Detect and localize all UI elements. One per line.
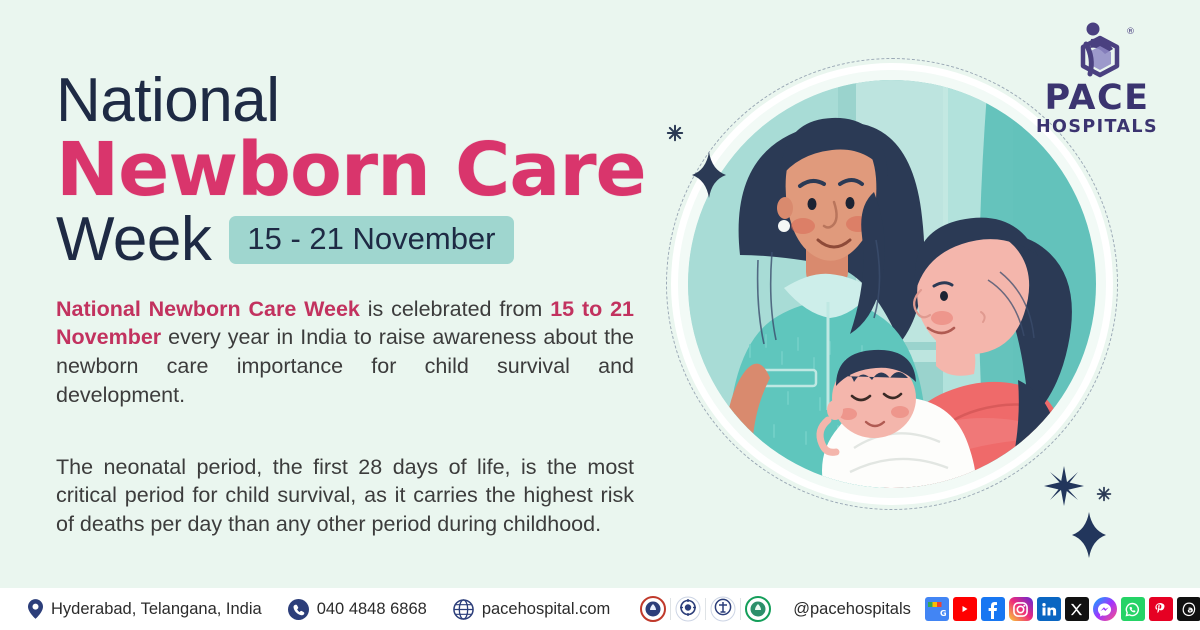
- logo-text-hospitals: HOSPITALS: [1022, 119, 1172, 137]
- description-text-1: is celebrated from: [360, 297, 550, 321]
- accreditation-badge-green: [745, 596, 771, 622]
- date-range-badge: 15 - 21 November: [229, 216, 513, 265]
- footer-location: Hyderabad, Telangana, India: [28, 599, 262, 619]
- accreditation-badge-nabl: [675, 596, 701, 622]
- headline-block: National Newborn Care Week 15 - 21 Novem…: [56, 72, 656, 539]
- logo-text-pace: PACE: [1022, 81, 1172, 116]
- svg-text:G: G: [940, 609, 946, 617]
- headline-week-row: Week 15 - 21 November: [56, 209, 656, 271]
- brand-logo[interactable]: ® PACE HOSPITALS: [1022, 22, 1172, 137]
- threads-icon[interactable]: [1177, 597, 1200, 621]
- phone-icon: [288, 599, 309, 620]
- description-paragraph-1: National Newborn Care Week is celebrated…: [56, 295, 634, 438]
- globe-icon: [453, 599, 474, 620]
- headline-line-week: Week: [56, 209, 211, 271]
- google-business-icon[interactable]: G: [925, 597, 949, 621]
- pinterest-icon[interactable]: [1149, 597, 1173, 621]
- nurse-mother-baby-illustration: [688, 80, 1096, 488]
- footer-phone-text: 040 4848 6868: [317, 600, 427, 619]
- social-handle: @pacehospitals: [793, 600, 911, 619]
- footer-phone[interactable]: 040 4848 6868: [288, 599, 427, 620]
- accreditation-badge-jci: [710, 596, 736, 622]
- x-twitter-icon[interactable]: [1065, 597, 1089, 621]
- logo-mark-hexagon-person-icon: ®: [1022, 22, 1172, 78]
- footer-location-text: Hyderabad, Telangana, India: [51, 600, 262, 619]
- sparkle-asterisk-top-left-icon: [666, 124, 684, 142]
- illustration-circle: [688, 80, 1096, 488]
- social-icons-row: G: [925, 597, 1200, 621]
- sparkle-asterisk-bottom-right-icon: [1096, 486, 1112, 502]
- poster-canvas: National Newborn Care Week 15 - 21 Novem…: [0, 0, 1200, 630]
- badge-divider: [705, 598, 706, 620]
- linkedin-icon[interactable]: [1037, 597, 1061, 621]
- youtube-icon[interactable]: [953, 597, 977, 621]
- headline-line-national: National: [56, 72, 656, 131]
- highlight-event-name: National Newborn Care Week: [56, 297, 360, 321]
- footer-website[interactable]: pacehospital.com: [453, 599, 610, 620]
- trademark-symbol: ®: [1126, 27, 1134, 37]
- sparkle-four-point-top-left-icon: [692, 152, 726, 198]
- facebook-icon[interactable]: [981, 597, 1005, 621]
- accreditation-badges: [640, 596, 771, 622]
- accreditation-badge-nabh: [640, 596, 666, 622]
- footer-bar: Hyderabad, Telangana, India 040 4848 686…: [0, 588, 1200, 630]
- footer-website-text: pacehospital.com: [482, 600, 610, 619]
- badge-divider: [740, 598, 741, 620]
- map-pin-icon: [28, 599, 43, 619]
- sparkle-four-point-bottom-right-icon: [1072, 512, 1106, 558]
- sparkle-burst-bottom-right-icon: [1044, 466, 1084, 506]
- headline-line-newborn-care: Newborn Care: [56, 133, 668, 207]
- badge-divider: [670, 598, 671, 620]
- description-paragraph-2: The neonatal period, the first 28 days o…: [56, 453, 634, 539]
- messenger-icon[interactable]: [1093, 597, 1117, 621]
- instagram-icon[interactable]: [1009, 597, 1033, 621]
- description-block: National Newborn Care Week is celebrated…: [56, 295, 634, 539]
- whatsapp-icon[interactable]: [1121, 597, 1145, 621]
